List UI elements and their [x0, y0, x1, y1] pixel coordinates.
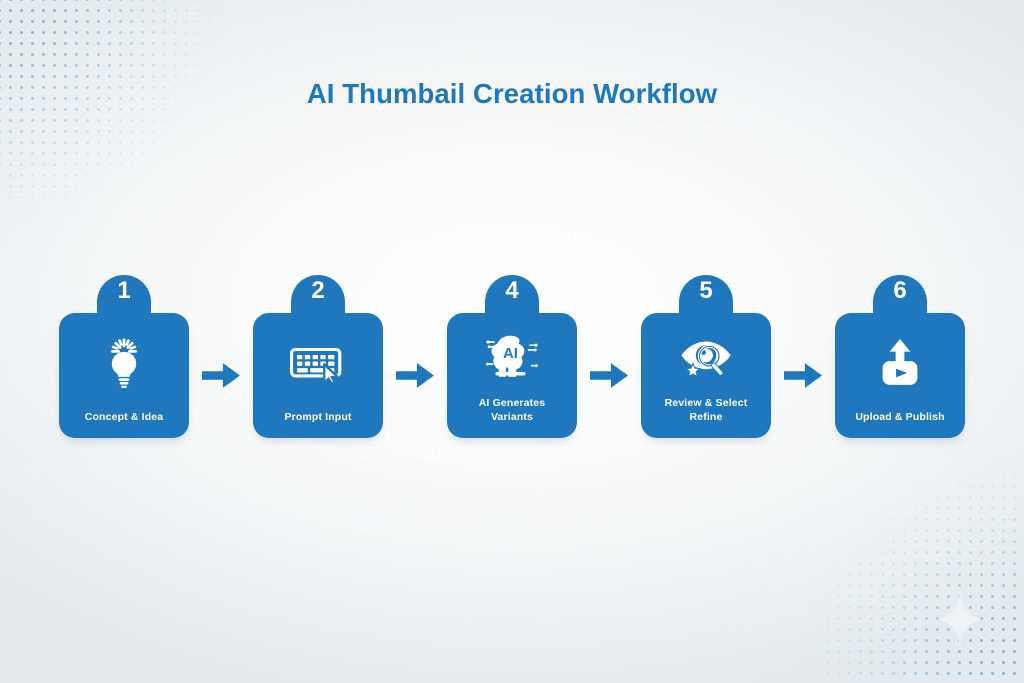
- connector-arrow-2: [383, 313, 447, 438]
- step-label-1: Concept & Idea: [59, 411, 189, 439]
- connector-arrow-4: [771, 313, 835, 438]
- step-number-1: 1: [117, 279, 130, 303]
- workflow-step-6[interactable]: 6 Upload & Publish: [835, 275, 965, 438]
- step-number-2: 2: [311, 279, 324, 303]
- step-label-4: AI Generates Variants: [447, 397, 577, 438]
- workflow-step-2[interactable]: 2: [253, 275, 383, 438]
- keyboard-cursor-icon: [253, 313, 383, 411]
- step-label-1-line-1: Concept & Idea: [65, 411, 183, 425]
- step-card-2[interactable]: Prompt Input: [253, 313, 383, 438]
- connector-arrow-3: [577, 313, 641, 438]
- svg-text:AI: AI: [503, 345, 518, 362]
- eye-magnifier-star-icon: [641, 313, 771, 397]
- step-label-6-line-1: Upload & Publish: [841, 411, 959, 425]
- sparkle-icon: [938, 591, 982, 647]
- step-label-2: Prompt Input: [253, 411, 383, 439]
- step-label-2-line-1: Prompt Input: [259, 411, 377, 425]
- ai-brain-head-icon: AI: [447, 313, 577, 397]
- step-label-6: Upload & Publish: [835, 411, 965, 439]
- bottom-right-dot-pattern: [800, 459, 1024, 683]
- step-card-5[interactable]: Review & Select Refine: [641, 313, 771, 438]
- upload-play-button-icon: [835, 313, 965, 411]
- step-number-6: 6: [893, 279, 906, 303]
- step-label-5-line-1: Review & Select: [647, 397, 765, 411]
- step-number-5: 5: [699, 279, 712, 303]
- connector-arrow-1: [189, 313, 253, 438]
- workflow-steps-row: 1: [0, 275, 1024, 438]
- workflow-step-5[interactable]: 5 Review &: [641, 275, 771, 438]
- top-left-dot-pattern: [0, 0, 224, 224]
- page-title: AI Thumbail Creation Workflow: [0, 78, 1024, 110]
- step-card-6[interactable]: Upload & Publish: [835, 313, 965, 438]
- workflow-step-1[interactable]: 1: [59, 275, 189, 438]
- step-number-4: 4: [505, 279, 518, 303]
- step-label-4-line-1: AI Generates: [453, 397, 571, 411]
- step-label-5-line-2: Refine: [647, 411, 765, 425]
- lightbulb-icon: [59, 313, 189, 411]
- workflow-step-4[interactable]: 4 AI: [447, 275, 577, 438]
- step-label-5: Review & Select Refine: [641, 397, 771, 438]
- step-card-1[interactable]: Concept & Idea: [59, 313, 189, 438]
- step-card-4[interactable]: AI: [447, 313, 577, 438]
- step-label-4-line-2: Variants: [453, 411, 571, 425]
- workflow-infographic: AI Thumbail Creation Workflow 1: [0, 0, 1024, 683]
